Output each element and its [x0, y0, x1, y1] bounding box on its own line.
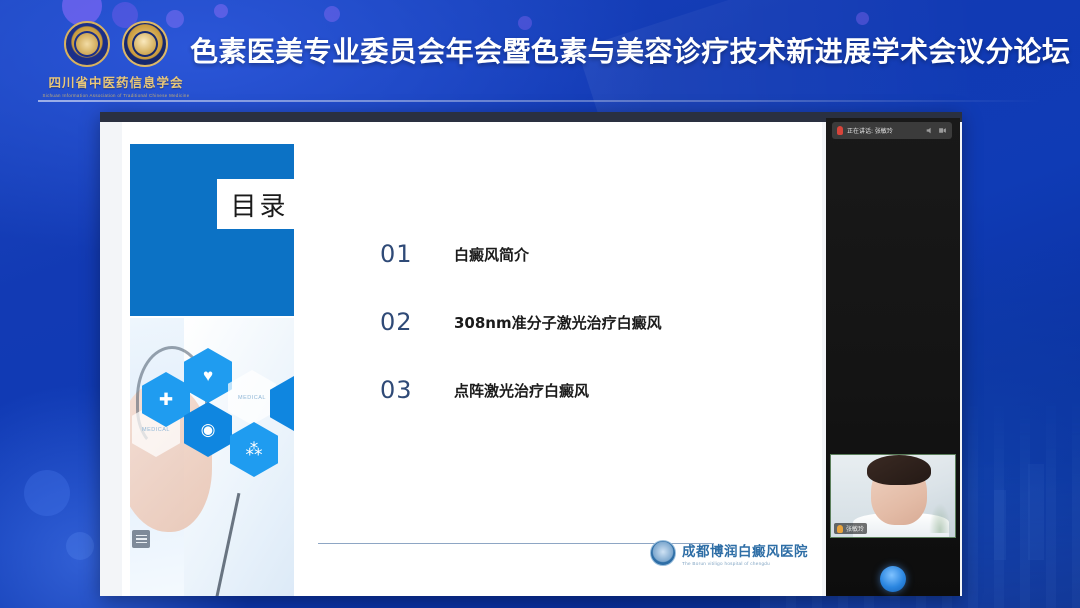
hex-medical-text: MEDICAL: [142, 427, 170, 433]
slide-accent-block: [130, 144, 294, 316]
microphone-icon: [837, 126, 843, 135]
skyline-tower: [1028, 464, 1044, 560]
active-speaker-label: 正在讲话: 张敏玲: [847, 126, 921, 135]
page-title: 色素医美专业委员会年会暨色素与美容诊疗技术新进展学术会议分论坛: [190, 30, 1060, 70]
toc-label: 白癜风简介: [454, 244, 529, 265]
page-header: 四川省中医药信息学会 Sichuan Information Associati…: [0, 0, 1080, 108]
toc-label: 308nm准分子激光治疗白癜风: [454, 312, 662, 333]
clipboard-icon: MEDICAL: [228, 370, 276, 425]
organization-name-cn: 四川省中医药信息学会: [48, 72, 183, 91]
toc-number: 01: [380, 240, 454, 268]
join-audio-button[interactable]: [880, 566, 906, 592]
view-switch-icon[interactable]: [938, 126, 947, 135]
toc-number: 03: [380, 376, 454, 404]
association-logo: 四川省中医药信息学会 Sichuan Information Associati…: [38, 18, 194, 100]
eye-icon: ◉: [184, 402, 232, 457]
list-item: 03 点阵激光治疗白癜风: [380, 356, 800, 424]
participant-name: 张敏玲: [846, 524, 864, 533]
table-of-contents: 01 白癜风简介 02 308nm准分子激光治疗白癜风 03 点阵激光治疗白癜风: [380, 220, 800, 424]
video-panel: 正在讲话: 张敏玲 张敏玲: [826, 118, 960, 596]
header-divider: [38, 100, 1042, 102]
hexagon-icon-cluster: MEDICAL ✚ ♥ ◉ MEDICAL ⁂: [130, 318, 294, 596]
toc-label: 点阵激光治疗白癜风: [454, 380, 589, 401]
slide-title: 目录: [230, 186, 288, 223]
hospital-name-cn: 成都博润白癜风医院: [682, 540, 808, 560]
slide-medical-photo: MEDICAL ✚ ♥ ◉ MEDICAL ⁂: [130, 318, 294, 596]
toc-number: 02: [380, 308, 454, 336]
speaker-icon[interactable]: [925, 126, 934, 135]
hospital-seal-icon: [650, 540, 676, 566]
participant-video-tile[interactable]: 张敏玲: [830, 454, 956, 538]
hospital-name-en: The Borun vitiligo hospital of chengdu: [682, 561, 808, 566]
seal-emblem-icon: [64, 21, 110, 67]
hospital-logo: 成都博润白癜风医院 The Borun vitiligo hospital of…: [650, 540, 808, 566]
presentation-slide: 目录 MEDICAL ✚ ♥ ◉ MEDICAL ⁂ 01 白癜风简介: [122, 122, 822, 596]
list-item: 02 308nm准分子激光治疗白癜风: [380, 288, 800, 356]
list-item: 01 白癜风简介: [380, 220, 800, 288]
hex-medical-text-2: MEDICAL: [238, 395, 266, 401]
network-icon: ⁂: [230, 422, 278, 477]
slide-options-widget[interactable]: [132, 530, 150, 548]
participant-name-tag: 张敏玲: [834, 523, 867, 534]
video-plant: [929, 503, 951, 533]
skyline-tower: [994, 490, 1006, 560]
logo-seals: [64, 21, 168, 67]
video-toolbar[interactable]: 正在讲话: 张敏玲: [832, 122, 952, 139]
video-person-hair: [867, 455, 931, 485]
bokeh-circle: [24, 470, 70, 516]
slide-title-box: 目录: [217, 179, 302, 229]
heart-icon: ♥: [184, 348, 232, 403]
bokeh-circle: [66, 532, 94, 560]
microphone-muted-icon: [837, 525, 843, 533]
dragon-seal-icon: [122, 21, 168, 67]
organization-name-en: Sichuan Information Association of Tradi…: [42, 93, 189, 98]
